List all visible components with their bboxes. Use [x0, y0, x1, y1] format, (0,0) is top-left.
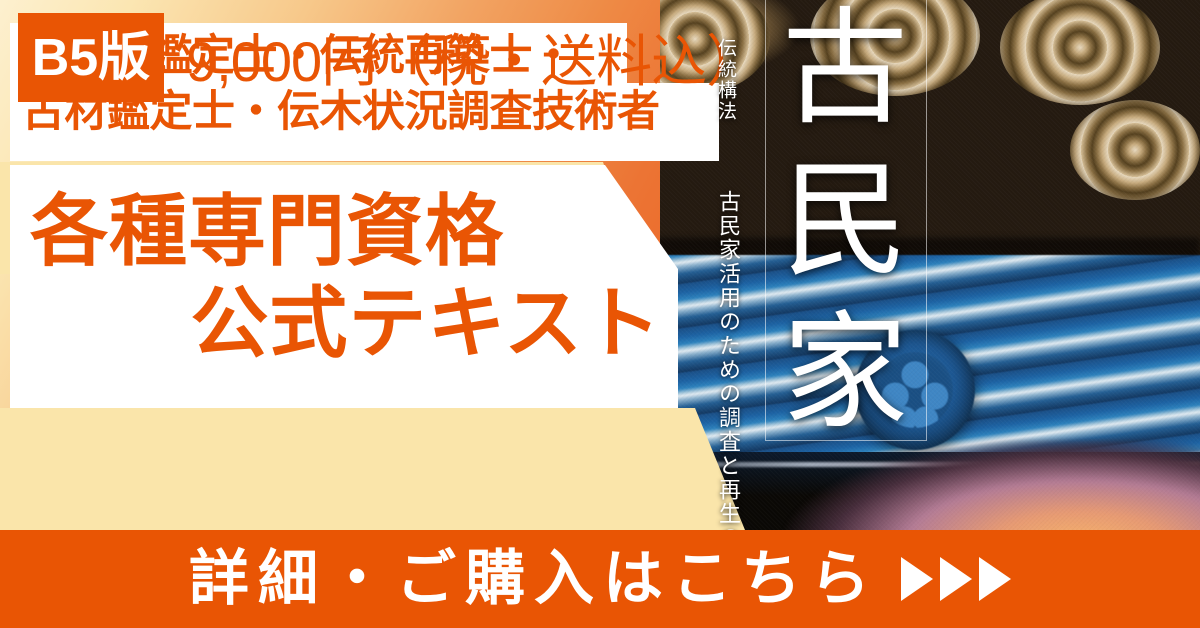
- cover-subtitle-side: 古民家活用のための調査と再生の: [712, 190, 744, 550]
- cover-title-char: 民: [782, 160, 908, 286]
- headline-line-2: 公式テキスト: [10, 270, 666, 362]
- b5-size-badge: B5版: [18, 13, 164, 102]
- cover-title-char: 古: [782, 8, 908, 134]
- price-band: [0, 408, 745, 530]
- cover-warm-glow: [750, 440, 1200, 530]
- wood-swirl-icon: [1070, 100, 1200, 200]
- cta-bar[interactable]: 詳細・ご購入はこちら: [0, 530, 1200, 628]
- cover-subtitle-top: 伝統構法: [712, 38, 739, 122]
- price-amount: 9,000円（税・送料込）: [186, 17, 761, 98]
- chevron-right-icon: [979, 557, 1011, 601]
- chevron-right-icon: [940, 557, 972, 601]
- promo-banner: 古 民 家 伝統構法 古民家活用のための調査と再生の 古民家鑑定士・伝統再築士・…: [0, 0, 1200, 628]
- cover-title-char: 家: [782, 312, 908, 438]
- price-row: B5版 9,000円（税・送料込）: [18, 13, 761, 102]
- headline-line-1: 各種専門資格: [10, 165, 666, 270]
- chevron-right-icon: [901, 557, 933, 601]
- headline-text: 各種専門資格 公式テキスト: [10, 165, 666, 362]
- cta-arrows[interactable]: [901, 557, 1011, 601]
- cta-label[interactable]: 詳細・ご購入はこちら: [189, 549, 879, 609]
- headline-panel: 各種専門資格 公式テキスト: [10, 165, 678, 408]
- cover-title-vertical: 古 民 家: [770, 8, 920, 438]
